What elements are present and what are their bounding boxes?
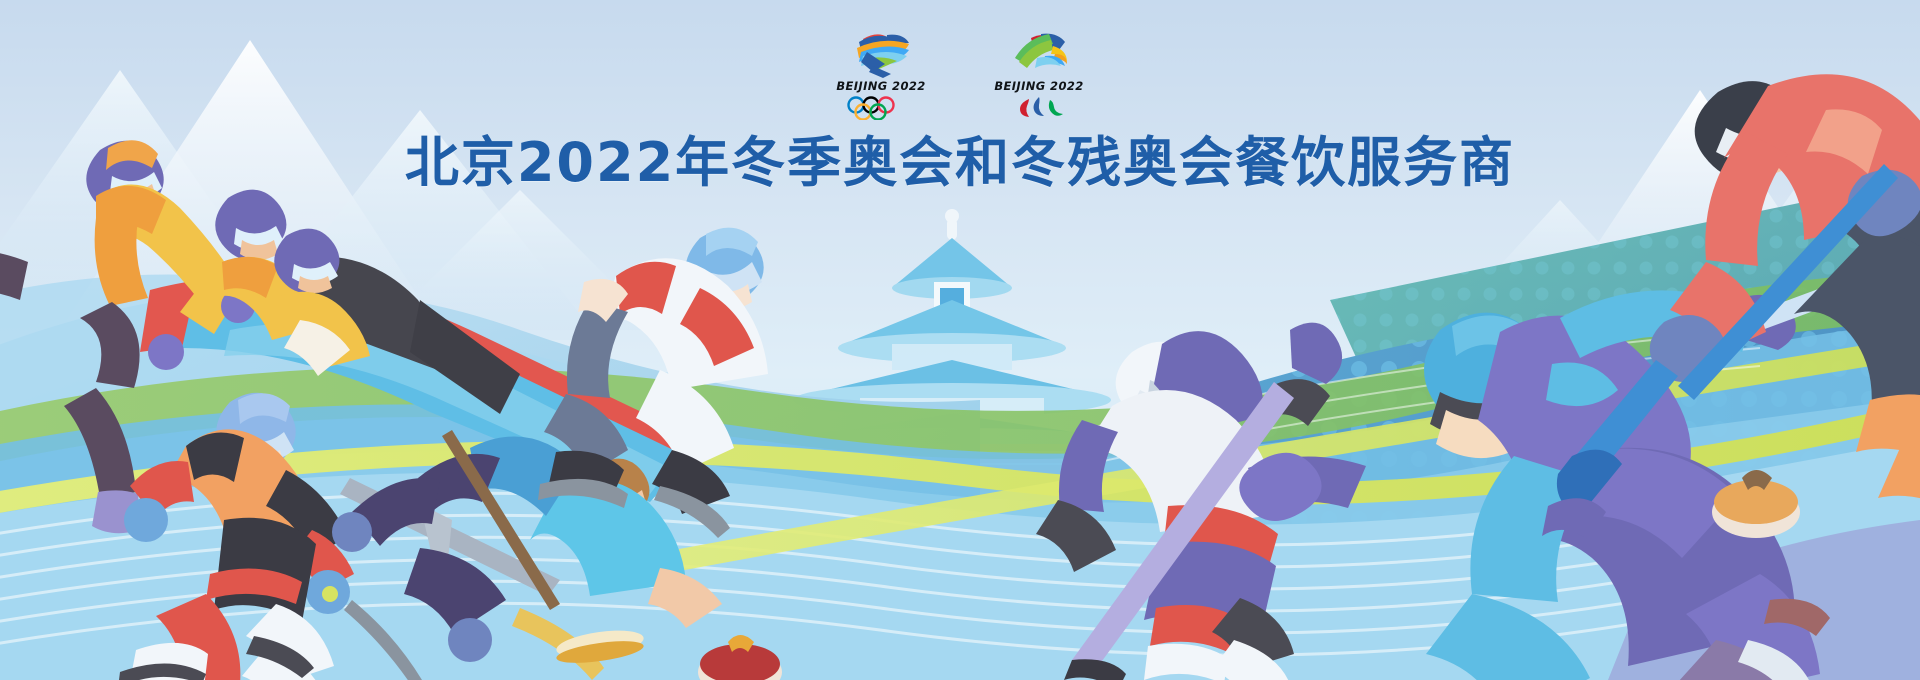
paralympic-wordmark: BEIJING 2022 [994, 81, 1083, 93]
olympics-banner: BEIJING 2022 [0, 0, 1920, 680]
olympic-emblem-icon [843, 28, 919, 78]
olympic-rings-icon [844, 96, 918, 120]
paralympic-emblem-icon [1001, 28, 1077, 78]
banner-title: 北京2022年冬季奥会和冬残奥会餐饮服务商 [0, 118, 1920, 197]
agitos-icon [1002, 96, 1076, 120]
beijing-2022-paralympic-emblem: BEIJING 2022 [987, 28, 1091, 120]
emblem-row: BEIJING 2022 [0, 28, 1920, 120]
beijing-2022-olympic-emblem: BEIJING 2022 [829, 28, 933, 120]
olympic-wordmark: BEIJING 2022 [836, 81, 925, 93]
